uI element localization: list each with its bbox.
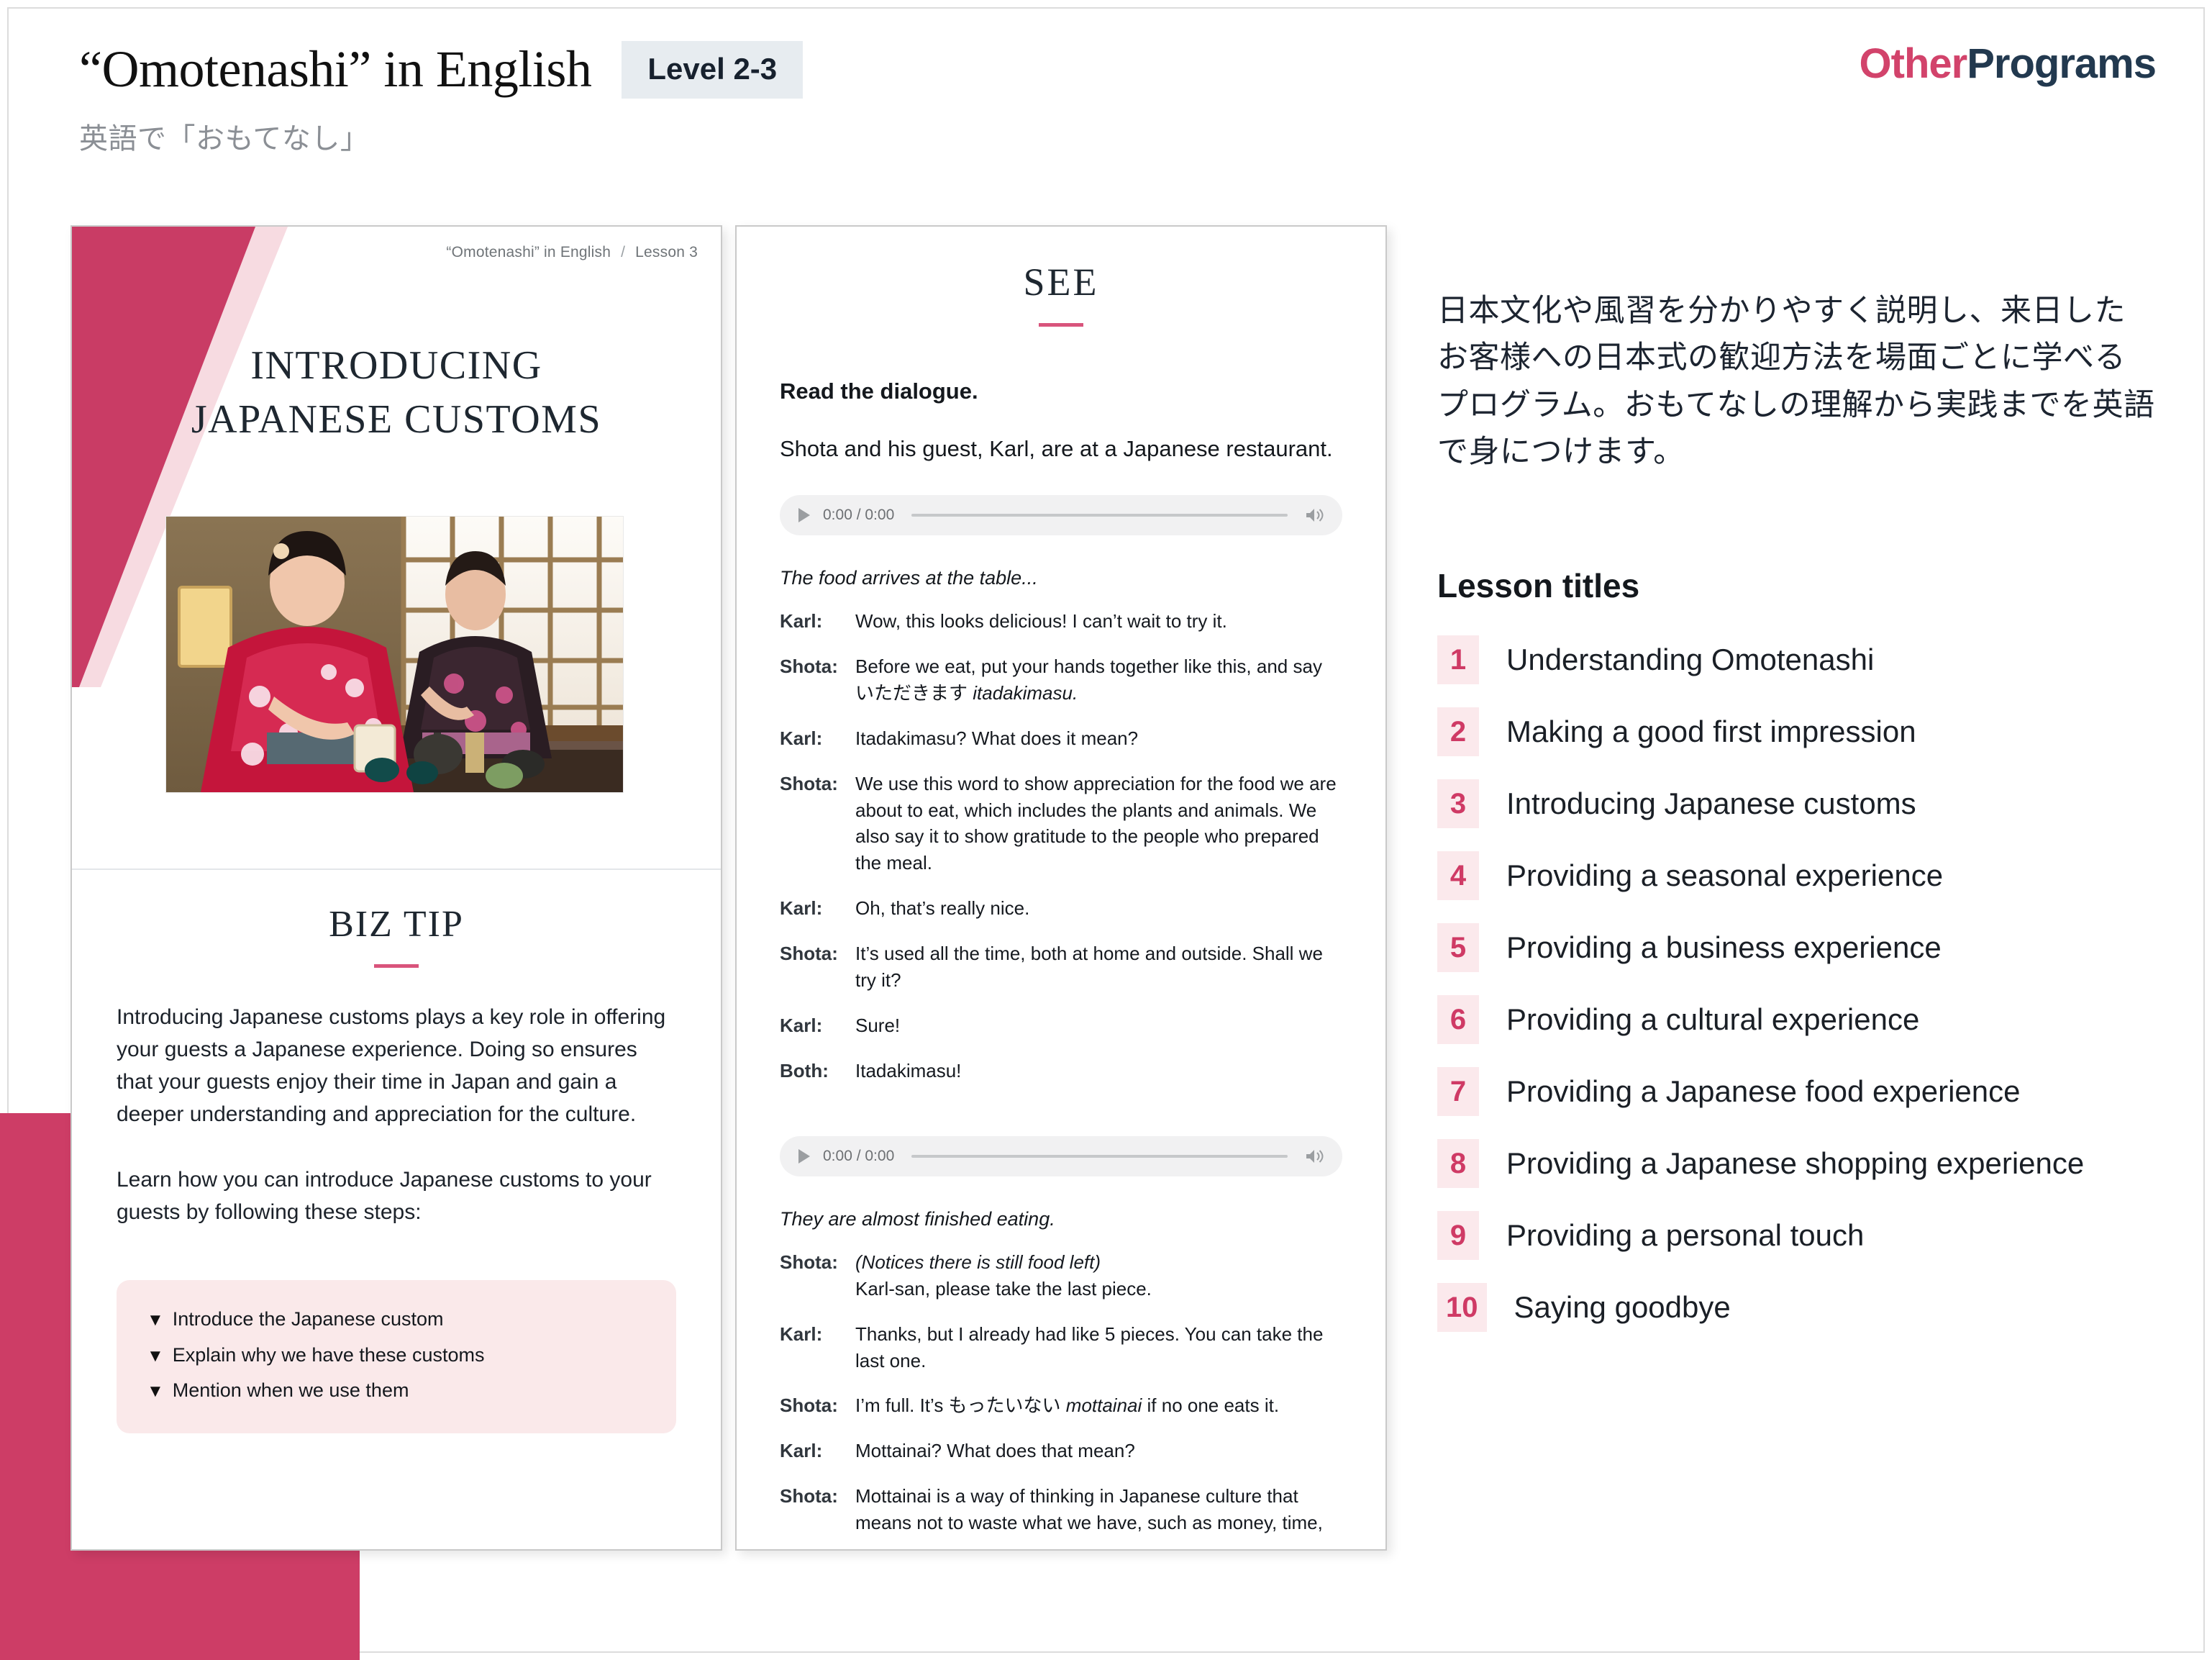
lesson-item-5[interactable]: 5 Providing a business experience — [1437, 912, 2157, 984]
dialogue-line: Shota: It’s used all the time, both at h… — [780, 940, 1342, 994]
speaker-text: Thanks, but I already had like 5 pieces.… — [855, 1321, 1342, 1374]
speaker-text: Sure! — [855, 1012, 1342, 1039]
lesson-number: 1 — [1437, 635, 1479, 684]
speaker-label: Karl: — [780, 1438, 855, 1464]
breadcrumb-course: “Omotenashi” in English — [446, 244, 611, 260]
play-icon[interactable] — [798, 508, 810, 522]
speaker-text: Mottainai is a way of thinking in Japane… — [855, 1483, 1342, 1536]
speaker-text-plain: Karl-san, please take the last piece. — [855, 1278, 1152, 1300]
lesson-item-10[interactable]: 10 Saying goodbye — [1437, 1271, 2157, 1343]
speaker-text: Oh, that’s really nice. — [855, 895, 1342, 922]
page-subtitle: 英語で「おもてなし」 — [79, 115, 803, 157]
steps-box: ▼ Introduce the Japanese custom ▼ Explai… — [117, 1280, 676, 1433]
speaker-label: Shota: — [780, 771, 855, 877]
dialogue-line: Karl: Oh, that’s really nice. — [780, 895, 1342, 922]
audio-time: 0:00 / 0:00 — [823, 507, 894, 524]
audio-player-2[interactable]: 0:00 / 0:00 — [780, 1136, 1342, 1176]
biz-tip-rule — [374, 964, 419, 968]
breadcrumb-lesson: Lesson 3 — [635, 244, 698, 260]
speaker-label: Shota: — [780, 1483, 855, 1536]
stage-note-2: They are almost finished eating. — [780, 1208, 1342, 1230]
speaker-label: Shota: — [780, 940, 855, 994]
logo-word-programs: Programs — [1967, 40, 2156, 87]
speaker-text-plain: I’m full. It’s もったいない — [855, 1394, 1066, 1416]
speaker-text: Wow, this looks delicious! I can’t wait … — [855, 608, 1342, 635]
triangle-bullet-icon: ▼ — [147, 1312, 164, 1329]
dialogue-line: Shota: Before we eat, put your hands tog… — [780, 653, 1342, 707]
lesson-item-1[interactable]: 1 Understanding Omotenashi — [1437, 624, 2157, 696]
dialogue-block-1: Karl: Wow, this looks delicious! I can’t… — [780, 608, 1342, 1084]
speaker-label: Both: — [780, 1058, 855, 1084]
page-header: “Omotenashi” in English Level 2-3 英語で「おも… — [79, 40, 803, 157]
play-icon[interactable] — [798, 1149, 810, 1164]
lesson-item-3[interactable]: 3 Introducing Japanese customs — [1437, 768, 2157, 840]
speaker-label: Karl: — [780, 1012, 855, 1039]
biz-tip-paragraph-2: Learn how you can introduce Japanese cus… — [117, 1164, 676, 1228]
stage-note-1: The food arrives at the table... — [780, 567, 1342, 589]
lesson-label: Providing a business experience — [1506, 930, 1942, 965]
speaker-label: Shota: — [780, 1249, 855, 1302]
dialogue-line: Karl: Itadakimasu? What does it mean? — [780, 725, 1342, 752]
cover-photo — [165, 516, 624, 793]
lesson-label: Providing a cultural experience — [1506, 1002, 1919, 1037]
step-label: Explain why we have these customs — [173, 1345, 485, 1366]
volume-glyph — [1305, 1148, 1324, 1164]
page-title: “Omotenashi” in English — [79, 40, 591, 99]
step-label: Mention when we use them — [173, 1380, 409, 1402]
brand-logo: OtherPrograms — [1860, 40, 2156, 88]
lesson-number: 7 — [1437, 1067, 1479, 1116]
lesson-number: 4 — [1437, 851, 1479, 900]
triangle-bullet-icon: ▼ — [147, 1383, 164, 1400]
dialogue-line: Shota: (Notices there is still food left… — [780, 1249, 1342, 1302]
audio-progress-track[interactable] — [911, 514, 1288, 517]
volume-glyph — [1305, 507, 1324, 523]
lesson-number: 5 — [1437, 923, 1479, 972]
speaker-text: Itadakimasu? What does it mean? — [855, 725, 1342, 752]
lesson-label: Understanding Omotenashi — [1506, 643, 1874, 677]
lesson-number: 6 — [1437, 995, 1479, 1044]
biz-tip-paragraph-1: Introducing Japanese customs plays a key… — [117, 1001, 676, 1130]
speaker-label: Karl: — [780, 725, 855, 752]
biz-tip-body: Introducing Japanese customs plays a key… — [117, 1001, 676, 1228]
breadcrumb-separator: / — [611, 244, 635, 260]
speaker-label: Karl: — [780, 895, 855, 922]
lesson-number: 10 — [1437, 1283, 1487, 1332]
cover-section: “Omotenashi” in English/Lesson 3 INTRODU… — [72, 227, 721, 870]
list-item: ▼ Explain why we have these customs — [147, 1338, 646, 1374]
see-body: Read the dialogue. Shota and his guest, … — [737, 378, 1385, 1536]
see-title: SEE — [737, 260, 1385, 304]
biz-tip-section: BIZ TIP Introducing Japanese customs pla… — [72, 870, 721, 1433]
lesson-number: 2 — [1437, 707, 1479, 756]
lesson-titles-heading: Lesson titles — [1437, 566, 2157, 605]
lesson-label: Saying goodbye — [1514, 1290, 1731, 1325]
lesson-label: Introducing Japanese customs — [1506, 786, 1916, 821]
see-instruction: Read the dialogue. — [780, 378, 1342, 404]
lesson-item-6[interactable]: 6 Providing a cultural experience — [1437, 984, 2157, 1056]
speaker-label: Karl: — [780, 608, 855, 635]
lesson-label: Providing a personal touch — [1506, 1218, 1864, 1253]
dialogue-line: Karl: Mottainai? What does that mean? — [780, 1438, 1342, 1464]
lesson-label: Making a good first impression — [1506, 715, 1916, 749]
dialogue-line: Both: Itadakimasu! — [780, 1058, 1342, 1084]
lesson-number: 3 — [1437, 779, 1479, 828]
cover-heading-line-2: JAPANESE CUSTOMS — [72, 393, 721, 447]
lesson-number: 8 — [1437, 1139, 1479, 1188]
dialogue-line: Shota: Mottainai is a way of thinking in… — [780, 1483, 1342, 1536]
speaker-text-plain-2: if no one eats it. — [1142, 1394, 1279, 1416]
cover-heading-line-1: INTRODUCING — [72, 339, 721, 393]
list-item: ▼ Introduce the Japanese custom — [147, 1302, 646, 1338]
cover-heading: INTRODUCING JAPANESE CUSTOMS — [72, 339, 721, 447]
lesson-label: Providing a seasonal experience — [1506, 858, 1943, 893]
audio-time: 0:00 / 0:00 — [823, 1148, 894, 1165]
program-description: 日本文化や風習を分かりやすく説明し、来日したお客様への日本式の歓迎方法を場面ごと… — [1437, 288, 2157, 476]
dialogue-block-2: Shota: (Notices there is still food left… — [780, 1249, 1342, 1536]
lesson-item-8[interactable]: 8 Providing a Japanese shopping experien… — [1437, 1128, 2157, 1199]
speaker-text-italic: itadakimasu. — [973, 682, 1078, 704]
breadcrumb: “Omotenashi” in English/Lesson 3 — [446, 244, 698, 261]
speaker-text: Before we eat, put your hands together l… — [855, 653, 1342, 707]
dialogue-line: Karl: Thanks, but I already had like 5 p… — [780, 1321, 1342, 1374]
dialogue-line: Karl: Wow, this looks delicious! I can’t… — [780, 608, 1342, 635]
speaker-text: Mottainai? What does that mean? — [855, 1438, 1342, 1464]
see-setup: Shota and his guest, Karl, are at a Japa… — [780, 436, 1342, 462]
lesson-see-slide[interactable]: SEE Read the dialogue. Shota and his gue… — [735, 225, 1387, 1551]
lesson-label: Providing a Japanese food experience — [1506, 1074, 2021, 1109]
speaker-label: Shota: — [780, 653, 855, 707]
lesson-titles-list: 1 Understanding Omotenashi 2 Making a go… — [1437, 624, 2157, 1343]
dialogue-line: Shota: I’m full. It’s もったいない mottainai i… — [780, 1392, 1342, 1419]
speaker-label: Shota: — [780, 1392, 855, 1419]
see-section: SEE Read the dialogue. Shota and his gue… — [737, 227, 1385, 1536]
level-badge: Level 2-3 — [622, 41, 803, 99]
lesson-item-7[interactable]: 7 Providing a Japanese food experience — [1437, 1056, 2157, 1128]
lesson-label: Providing a Japanese shopping experience — [1506, 1146, 2084, 1181]
tea-ceremony-illustration — [166, 517, 623, 792]
speaker-text: It’s used all the time, both at home and… — [855, 940, 1342, 994]
logo-word-other: Other — [1860, 40, 1967, 87]
biz-tip-title: BIZ TIP — [72, 903, 721, 945]
volume-icon[interactable] — [1305, 507, 1324, 523]
speaker-text: (Notices there is still food left)Karl-s… — [855, 1249, 1342, 1302]
lesson-cover-slide[interactable]: “Omotenashi” in English/Lesson 3 INTRODU… — [70, 225, 722, 1551]
speaker-text: We use this word to show appreciation fo… — [855, 771, 1342, 877]
lesson-number: 9 — [1437, 1211, 1479, 1260]
lesson-item-4[interactable]: 4 Providing a seasonal experience — [1437, 840, 2157, 912]
volume-icon[interactable] — [1305, 1148, 1324, 1164]
speaker-label: Karl: — [780, 1321, 855, 1374]
audio-progress-track[interactable] — [911, 1155, 1288, 1158]
speaker-text-plain: Before we eat, put your hands together l… — [855, 656, 1322, 704]
list-item: ▼ Mention when we use them — [147, 1373, 646, 1409]
speaker-text-italic: (Notices there is still food left) — [855, 1251, 1101, 1273]
triangle-bullet-icon: ▼ — [147, 1348, 164, 1365]
step-label: Introduce the Japanese custom — [173, 1309, 444, 1330]
speaker-text: I’m full. It’s もったいない mottainai if no on… — [855, 1392, 1342, 1419]
right-column: 日本文化や風習を分かりやすく説明し、来日したお客様への日本式の歓迎方法を場面ごと… — [1437, 288, 2157, 1343]
lesson-item-9[interactable]: 9 Providing a personal touch — [1437, 1199, 2157, 1271]
see-rule — [1039, 323, 1083, 327]
dialogue-line: Shota: We use this word to show apprecia… — [780, 771, 1342, 877]
title-row: “Omotenashi” in English Level 2-3 — [79, 40, 803, 99]
lesson-item-2[interactable]: 2 Making a good first impression — [1437, 696, 2157, 768]
slide-canvas: “Omotenashi” in English Level 2-3 英語で「おも… — [0, 0, 2212, 1660]
dialogue-line: Karl: Sure! — [780, 1012, 1342, 1039]
speaker-text: Itadakimasu! — [855, 1058, 1342, 1084]
speaker-text-italic: mottainai — [1066, 1394, 1142, 1416]
audio-player-1[interactable]: 0:00 / 0:00 — [780, 495, 1342, 535]
